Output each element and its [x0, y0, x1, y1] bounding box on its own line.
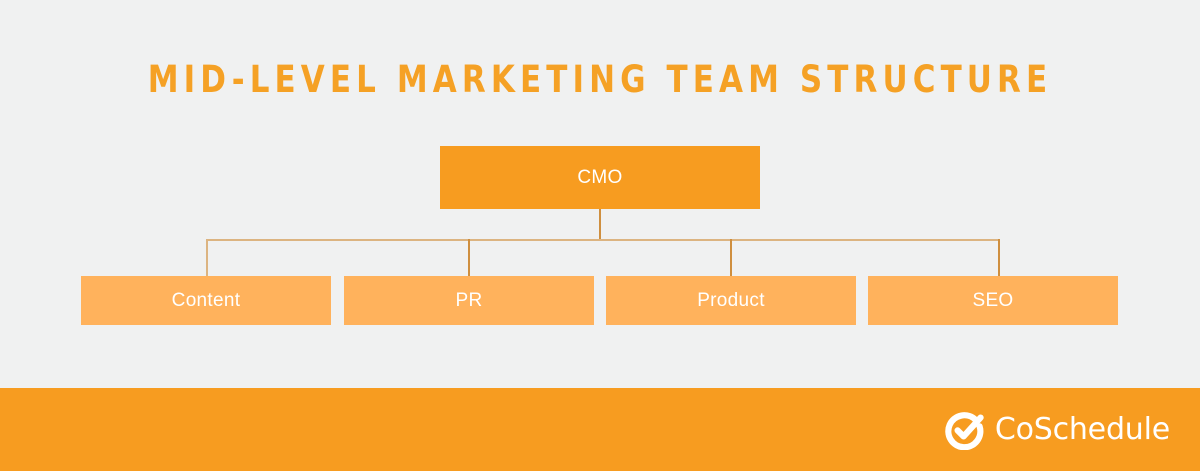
org-node-cmo: CMO	[440, 146, 760, 209]
org-node-content: Content	[81, 276, 331, 325]
connector-drop-product	[730, 239, 732, 276]
brand-logo: CoSchedule	[945, 388, 1170, 471]
brand-wordmark: CoSchedule	[995, 415, 1170, 445]
circle-check-icon	[945, 410, 985, 450]
page-title: MID-LEVEL MARKETING TEAM STRUCTURE	[42, 58, 1158, 101]
infographic-canvas: MID-LEVEL MARKETING TEAM STRUCTURE CMO C…	[0, 0, 1200, 471]
connector-stem-cmo	[599, 209, 601, 240]
footer-band: CoSchedule	[0, 388, 1200, 471]
org-node-product: Product	[606, 276, 856, 325]
org-node-seo: SEO	[868, 276, 1118, 325]
connector-horizontal-bus	[206, 239, 1000, 241]
connector-drop-seo	[998, 239, 1000, 276]
org-node-pr: PR	[344, 276, 594, 325]
connector-drop-content	[206, 239, 208, 276]
connector-drop-pr	[468, 239, 470, 276]
